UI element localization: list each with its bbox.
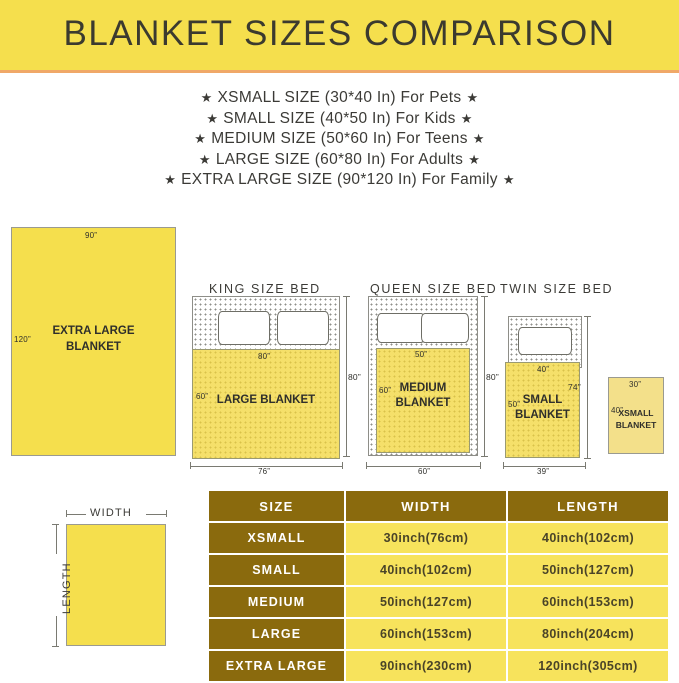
large-blanket-shape: LARGE BLANKET: [192, 349, 340, 459]
cell-width: 40inch(102cm): [346, 555, 506, 585]
cell-width: 90inch(230cm): [346, 651, 506, 681]
extra-large-blanket-shape: EXTRA LARGE BLANKET: [11, 227, 176, 456]
cell-length: 60inch(153cm): [508, 587, 668, 617]
cell-length: 120inch(305cm): [508, 651, 668, 681]
twin-bed-height-dimension: 74”: [568, 382, 581, 392]
legend-width-label: WIDTH: [90, 507, 132, 519]
twin-blanket-width-dimension: 40”: [537, 365, 549, 374]
queen-bed-height-dimension-left: 80”: [348, 372, 361, 382]
king-bed-width-dimension: 76”: [258, 467, 270, 476]
cell-width: 60inch(153cm): [346, 619, 506, 649]
legend-width-tick-left: [66, 510, 67, 517]
legend-length-tick-top: [52, 524, 59, 525]
cell-size: MEDIUM: [209, 587, 344, 617]
king-pillow-left: [218, 311, 270, 345]
extra-large-blanket-label: EXTRA LARGE BLANKET: [12, 323, 175, 355]
cell-size: SMALL: [209, 555, 344, 585]
legend-blanket-shape: [66, 524, 166, 646]
twin-rule-tick-bottom: [584, 458, 591, 459]
twin-bed-width-dimension: 39”: [537, 467, 549, 476]
legend-width-tick-right: [166, 510, 167, 517]
cell-length: 80inch(204cm): [508, 619, 668, 649]
medium-label-line2: BLANKET: [396, 397, 451, 409]
small-label-line2: BLANKET: [515, 409, 570, 421]
twin-rule-tick-right: [585, 462, 586, 469]
queen-left-rule-tick-top: [343, 296, 350, 297]
small-label-line1: SMALL: [523, 394, 563, 406]
queen-bed-height-rule-right: [484, 296, 485, 456]
queen-pillow-left: [377, 313, 425, 343]
xsmall-label-line2: BLANKET: [616, 420, 657, 430]
queen-bed-label: QUEEN SIZE BED: [370, 282, 497, 296]
twin-rule-tick-left: [503, 462, 504, 469]
cell-width: 50inch(127cm): [346, 587, 506, 617]
extra-large-label-line1: EXTRA LARGE: [53, 325, 135, 337]
queen-bed-height-rule-left: [346, 296, 347, 456]
legend-width-rule-right: [146, 514, 166, 515]
cell-size: LARGE: [209, 619, 344, 649]
xsmall-label-line1: XSMALL: [619, 408, 654, 418]
xsmall-side-dimension: 40”: [611, 406, 623, 415]
extra-large-side-dimension: 120”: [14, 335, 31, 344]
twin-blanket-height-dimension: 50”: [508, 400, 520, 409]
column-header-size: SIZE: [209, 491, 344, 521]
table-row: MEDIUM 50inch(127cm) 60inch(153cm): [209, 587, 668, 617]
xsmall-top-dimension: 30”: [629, 380, 641, 389]
medium-blanket-shape: MEDIUM BLANKET: [376, 348, 470, 453]
queen-right-rule-tick-bottom: [481, 456, 488, 457]
table-row: XSMALL 30inch(76cm) 40inch(102cm): [209, 523, 668, 553]
queen-blanket-height-dimension: 60”: [379, 386, 391, 395]
queen-rule-tick-right: [480, 462, 481, 469]
legend-length-label: LENGTH: [61, 562, 73, 614]
column-header-length: LENGTH: [508, 491, 668, 521]
queen-bed-height-dimension-right: 80”: [486, 372, 499, 382]
small-blanket-shape: SMALL BLANKET: [505, 362, 580, 458]
king-bed-label: KING SIZE BED: [209, 282, 321, 296]
twin-pillow: [518, 327, 572, 355]
cell-length: 40inch(102cm): [508, 523, 668, 553]
table-header-row: SIZE WIDTH LENGTH: [209, 491, 668, 521]
cell-width: 30inch(76cm): [346, 523, 506, 553]
king-blanket-width-dimension: 80”: [258, 352, 270, 361]
extra-large-label-line2: BLANKET: [66, 341, 121, 353]
king-rule-tick-left: [190, 462, 191, 469]
twin-rule-tick-top: [584, 316, 591, 317]
medium-label-line1: MEDIUM: [400, 382, 447, 394]
legend-length-tick-bottom: [52, 646, 59, 647]
table-row: SMALL 40inch(102cm) 50inch(127cm): [209, 555, 668, 585]
table-row: EXTRA LARGE 90inch(230cm) 120inch(305cm): [209, 651, 668, 681]
table-row: LARGE 60inch(153cm) 80inch(204cm): [209, 619, 668, 649]
twin-bed-height-rule: [587, 316, 588, 458]
queen-pillow-right: [421, 313, 469, 343]
queen-right-rule-tick-top: [481, 296, 488, 297]
column-header-width: WIDTH: [346, 491, 506, 521]
extra-large-top-dimension: 90”: [85, 231, 97, 240]
legend-length-rule-bottom: [56, 616, 57, 646]
queen-rule-tick-left: [366, 462, 367, 469]
cell-length: 50inch(127cm): [508, 555, 668, 585]
legend-width-rule-left: [66, 514, 86, 515]
king-pillow-right: [277, 311, 329, 345]
blanket-size-table: SIZE WIDTH LENGTH XSMALL 30inch(76cm) 40…: [207, 489, 670, 683]
king-rule-tick-right: [342, 462, 343, 469]
queen-bed-width-dimension: 60”: [418, 467, 430, 476]
queen-blanket-width-dimension: 50”: [415, 350, 427, 359]
cell-size: EXTRA LARGE: [209, 651, 344, 681]
large-blanket-label: LARGE BLANKET: [193, 393, 339, 408]
queen-left-rule-tick-bottom: [343, 456, 350, 457]
king-blanket-height-dimension: 60”: [196, 392, 208, 401]
legend-length-rule-top: [56, 524, 57, 554]
cell-size: XSMALL: [209, 523, 344, 553]
twin-bed-label: TWIN SIZE BED: [500, 282, 613, 296]
